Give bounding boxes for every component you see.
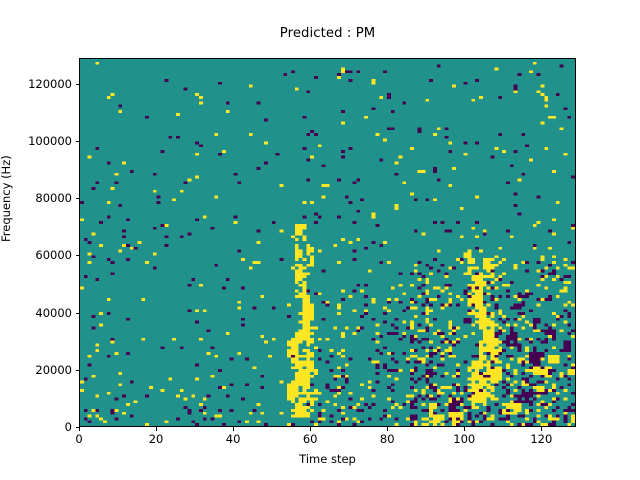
y-tick-label: 100000 (28, 134, 72, 148)
x-tick-mark (387, 427, 388, 431)
x-tick-mark (310, 427, 311, 431)
x-tick-label: 120 (530, 432, 552, 446)
x-tick-label: 100 (453, 432, 475, 446)
x-tick-mark (464, 427, 465, 431)
y-tick-mark (76, 84, 80, 85)
y-tick-label: 0 (65, 420, 72, 434)
x-tick-mark (156, 427, 157, 431)
chart-title: Predicted : PM (79, 26, 576, 41)
y-tick-label: 80000 (35, 191, 72, 205)
y-tick-label: 120000 (28, 77, 72, 91)
x-tick-label: 60 (303, 432, 318, 446)
x-tick-label: 20 (149, 432, 164, 446)
heatmap-image (80, 59, 575, 426)
y-tick-mark (76, 427, 80, 428)
y-tick-mark (76, 141, 80, 142)
x-tick-mark (79, 427, 80, 431)
x-tick-label: 80 (380, 432, 395, 446)
y-tick-mark (76, 198, 80, 199)
x-tick-label: 40 (226, 432, 241, 446)
y-tick-label: 60000 (35, 248, 72, 262)
heatmap-axes (79, 58, 576, 427)
x-axis-label: Time step (79, 452, 576, 466)
y-tick-mark (76, 370, 80, 371)
matplotlib-figure: Predicted : PM 020406080100120 020000400… (0, 0, 640, 480)
y-tick-label: 40000 (35, 306, 72, 320)
x-tick-mark (233, 427, 234, 431)
y-tick-label: 20000 (35, 363, 72, 377)
y-tick-mark (76, 313, 80, 314)
y-tick-mark (76, 255, 80, 256)
x-tick-mark (541, 427, 542, 431)
x-tick-label: 0 (75, 432, 82, 446)
y-axis-label: Frequency (Hz) (0, 155, 13, 242)
